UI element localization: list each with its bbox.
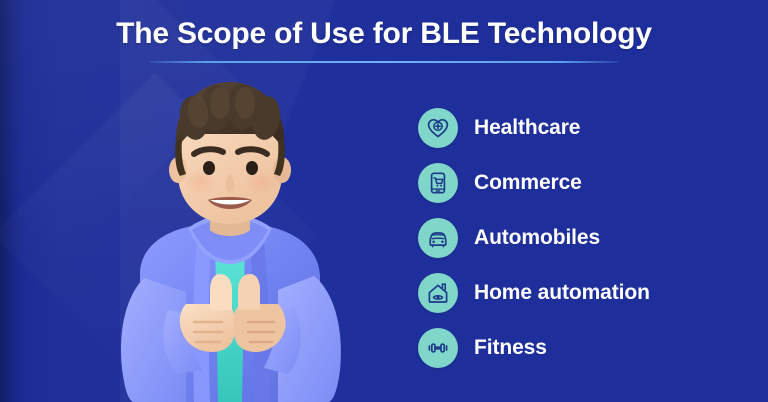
title-block: The Scope of Use for BLE Technology [0, 16, 768, 63]
car-icon [418, 218, 458, 258]
phone-cart-icon [418, 163, 458, 203]
feature-label-home-automation: Home automation [474, 281, 650, 305]
feature-item-automobiles[interactable]: Automobiles [418, 210, 748, 265]
feature-label-automobiles: Automobiles [474, 226, 600, 250]
feature-label-fitness: Fitness [474, 336, 547, 360]
feature-label-commerce: Commerce [474, 171, 582, 195]
feature-item-healthcare[interactable]: Healthcare [418, 100, 748, 155]
feature-item-fitness[interactable]: Fitness [418, 320, 748, 375]
smart-house-icon [418, 273, 458, 313]
feature-list: Healthcare Commerce [418, 100, 748, 375]
title-underline [149, 61, 619, 63]
character-illustration [82, 78, 372, 402]
feature-label-healthcare: Healthcare [474, 116, 580, 140]
page-title: The Scope of Use for BLE Technology [0, 16, 768, 52]
feature-item-home-automation[interactable]: Home automation [418, 265, 748, 320]
dumbbell-icon [418, 328, 458, 368]
heart-cross-icon [418, 108, 458, 148]
feature-item-commerce[interactable]: Commerce [418, 155, 748, 210]
infographic-canvas: The Scope of Use for BLE Technology [0, 0, 768, 402]
